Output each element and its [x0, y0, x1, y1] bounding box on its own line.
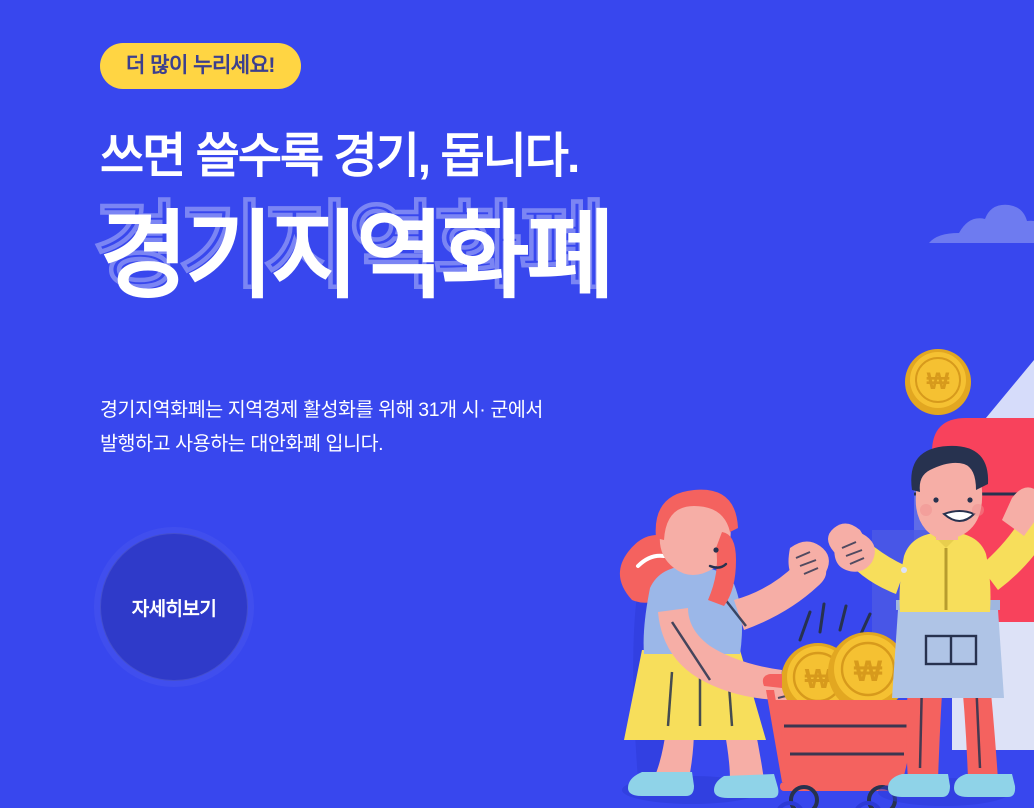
- more-details-label: 자세히보기: [132, 594, 216, 621]
- gold-coin-floating: ₩: [905, 349, 971, 415]
- hero-description: 경기지역화폐는 지역경제 활성화를 위해 31개 시· 군에서 발행하고 사용하…: [100, 393, 740, 462]
- promo-badge: 더 많이 누리세요!: [100, 43, 301, 89]
- woman-shopper: [620, 490, 829, 804]
- accent-red-shape: [914, 418, 1034, 622]
- hero-headline: 쓰면 쓸수록 경기, 돕니다.: [100, 130, 740, 184]
- man-merchant: [828, 446, 1034, 806]
- hero-title: 경기지역화폐: [100, 198, 612, 315]
- svg-text:₩: ₩: [854, 655, 883, 688]
- hero-copy: 더 많이 누리세요! 쓰면 쓸수록 경기, 돕니다. 경기지역화폐 경기지역화폐…: [100, 0, 740, 462]
- cart-coin-right: ₩: [828, 632, 908, 712]
- cart-coin-left: ₩: [781, 643, 855, 717]
- cloud-icon: [929, 205, 1034, 243]
- hero-description-line-2: 발행하고 사용하는 대안화폐 입니다.: [100, 427, 740, 462]
- hero-title-wrap: 경기지역화폐 경기지역화폐: [100, 198, 740, 336]
- shopping-cart: ₩ ₩: [763, 604, 922, 808]
- hero-description-line-1: 경기지역화폐는 지역경제 활성화를 위해 31개 시· 군에서: [100, 399, 543, 421]
- hero-banner: ₩: [0, 0, 1034, 808]
- more-details-button[interactable]: 자세히보기: [100, 533, 248, 681]
- svg-text:₩: ₩: [805, 663, 832, 694]
- svg-text:₩: ₩: [927, 368, 950, 395]
